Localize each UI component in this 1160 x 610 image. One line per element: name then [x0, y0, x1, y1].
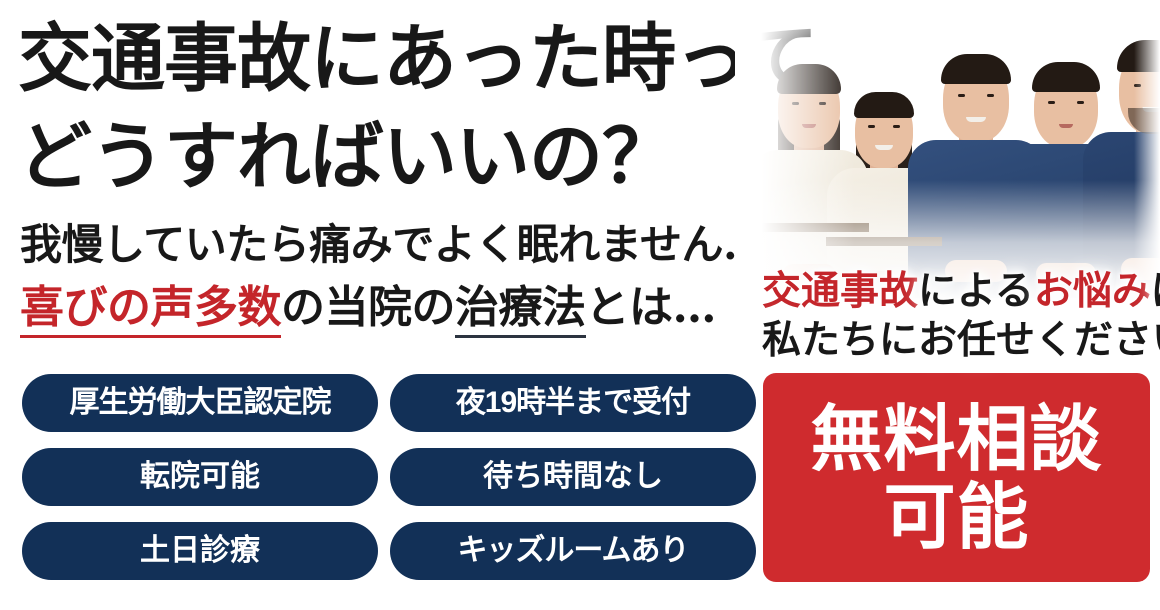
- eye-left: [1048, 101, 1055, 104]
- photo-caption-line-2: 私たちにお任せください: [762, 321, 1160, 360]
- caption-black-wa: は: [1151, 268, 1160, 314]
- cta-line-2: 可能: [883, 481, 1029, 553]
- badge-label: 夜19時半まで受付: [456, 388, 690, 418]
- subheadline-line-1: 我慢していたら痛みでよく眠れません…: [20, 224, 764, 266]
- caption-red-worry: お悩み: [1034, 268, 1151, 314]
- badge-transfer-available[interactable]: 転院可能: [22, 448, 378, 506]
- badge-label: 土日診療: [140, 536, 260, 566]
- mouth: [875, 145, 893, 150]
- badge-open-until-1930[interactable]: 夜19時半まで受付: [390, 374, 756, 432]
- subheadline-line-2: 喜びの声多数の当院の治療法とは…: [20, 286, 716, 330]
- headline-line-2: どうすればいいの？: [18, 120, 675, 194]
- staff-group-photo: [735, 0, 1160, 300]
- mouth: [1059, 124, 1073, 128]
- hair-front: [1032, 62, 1100, 92]
- eye-left: [958, 94, 965, 97]
- caption-black-by: による: [918, 268, 1034, 314]
- subheadline-tail-text: とは…: [586, 282, 717, 333]
- badge-ministry-certified[interactable]: 厚生労働大臣認定院: [22, 374, 378, 432]
- eye-right: [987, 94, 994, 97]
- badge-label: 厚生労働大臣認定院: [70, 388, 331, 418]
- eye-right: [1077, 101, 1084, 104]
- caption-red-accident: 交通事故: [762, 268, 918, 314]
- eye-right: [893, 125, 900, 128]
- subheadline-highlight-joy: 喜びの声多数: [20, 282, 281, 338]
- badge-weekend-treatment[interactable]: 土日診療: [22, 522, 378, 580]
- subheadline-highlight-treatment: 治療法: [455, 282, 586, 338]
- cta-line-1: 無料相談: [810, 403, 1102, 475]
- subheadline-mid-text: の当院の: [281, 282, 455, 333]
- hair-front: [941, 54, 1011, 84]
- headline-line-1: 交通事故にあった時って: [18, 22, 817, 96]
- badge-label: 待ち時間なし: [483, 462, 663, 492]
- badge-label: キッズルームあり: [457, 536, 688, 566]
- hair-front: [854, 92, 914, 118]
- badge-kids-room[interactable]: キッズルームあり: [390, 522, 756, 580]
- eye-left: [868, 125, 875, 128]
- clinic-promo-banner: 交通事故にあった時って どうすればいいの？ 我慢していたら痛みでよく眠れません……: [0, 0, 1160, 610]
- mouth: [966, 117, 986, 122]
- badge-label: 転院可能: [140, 462, 260, 492]
- photo-caption-line-1: 交通事故によるお悩みは: [762, 272, 1160, 311]
- photo-background: [735, 0, 1160, 300]
- badge-no-wait-time[interactable]: 待ち時間なし: [390, 448, 756, 506]
- free-consultation-cta[interactable]: 無料相談 可能: [763, 373, 1150, 582]
